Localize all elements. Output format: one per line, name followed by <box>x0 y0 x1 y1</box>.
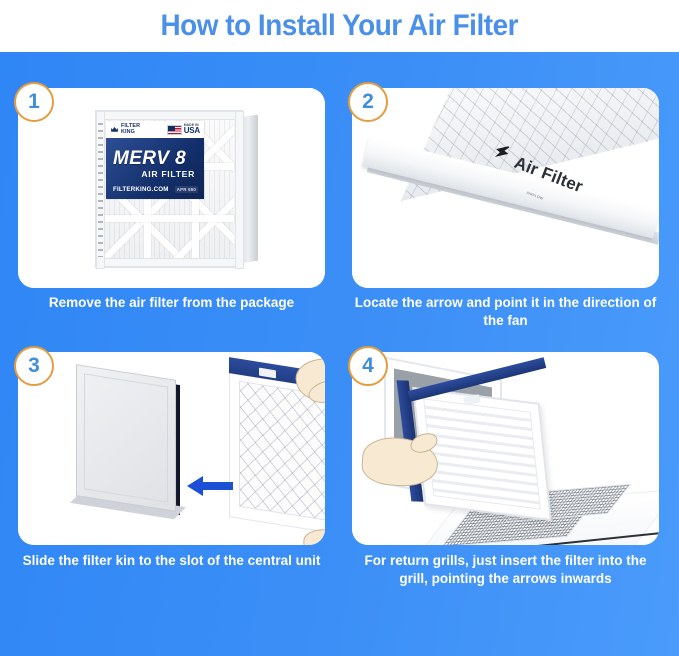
apr-rating-badge: APR 650 <box>175 186 198 193</box>
filter-product-label: FILTER KING MADE IN <box>106 121 204 199</box>
steps-board: FILTER KING MADE IN <box>0 52 679 656</box>
step-number-badge-1: 1 <box>14 82 54 122</box>
filter-king-logo: FILTER KING <box>110 124 140 135</box>
filter-front-face: FILTER KING MADE IN <box>95 110 243 268</box>
step-card-2: Air Filter AIRFLOW 2 Locate the arrow an… <box>352 88 659 336</box>
step-number-badge-4: 4 <box>348 346 388 386</box>
step-1-image-card: FILTER KING MADE IN <box>18 88 325 288</box>
step-card-3: 3 Slide the filter kin to the slot of th… <box>18 352 325 584</box>
filter-frame-edge <box>96 111 244 120</box>
step-4-image-card <box>352 352 659 545</box>
label-brand-row: FILTER KING MADE IN <box>106 121 204 138</box>
step-number-badge-3: 3 <box>14 346 54 386</box>
merv-rating: MERV 8 <box>113 149 186 168</box>
step-caption-2: Locate the arrow and point it in the dir… <box>352 294 659 330</box>
step-card-1: FILTER KING MADE IN <box>18 88 325 336</box>
filter-arrow-photo: Air Filter AIRFLOW <box>352 88 659 288</box>
filter-product-photo: FILTER KING MADE IN <box>18 88 325 288</box>
merv8-filter-graphic: FILTER KING MADE IN <box>95 110 258 268</box>
grill-louvers <box>423 398 540 509</box>
label-navy-body: MERV 8 AIR FILTER FILTERKING.COM APR 650 <box>106 138 204 199</box>
filter-staple-marks <box>98 123 103 257</box>
filter-mesh-pattern <box>239 381 325 522</box>
filter-corner-inner: Air Filter AIRFLOW <box>356 88 659 257</box>
step-card-4: 4 For return grills, just insert the fil… <box>352 352 659 584</box>
crown-icon <box>110 125 119 134</box>
step-caption-1: Remove the air filter from the package <box>18 294 325 312</box>
product-type: AIR FILTER <box>141 170 195 179</box>
usa-flag-icon <box>167 125 182 135</box>
step-2-image-card: Air Filter AIRFLOW <box>352 88 659 288</box>
brand-name: FILTER KING <box>121 124 140 135</box>
airflow-arrow-icon <box>491 141 515 165</box>
made-in-usa-text: MADE IN USA <box>184 124 200 135</box>
step-caption-3: Slide the filter kin to the slot of the … <box>18 552 325 570</box>
slide-filter-illustration <box>18 352 325 545</box>
made-in-usa-badge: MADE IN USA <box>167 124 200 135</box>
page-title: How to Install Your Air Filter <box>161 11 519 41</box>
return-grill-illustration <box>352 352 659 545</box>
infographic-page: How to Install Your Air Filter <box>0 0 679 656</box>
insertion-arrow-icon <box>187 474 233 498</box>
brand-line-2: KING <box>121 130 140 136</box>
header-bar: How to Install Your Air Filter <box>0 0 679 52</box>
central-unit-slot <box>84 373 168 502</box>
step-3-image-card <box>18 352 325 545</box>
filter-frame-edge <box>235 111 244 269</box>
step-number-badge-2: 2 <box>348 82 388 122</box>
step-caption-4: For return grills, just insert the filte… <box>352 552 659 588</box>
filter-corner-graphic: Air Filter AIRFLOW <box>352 88 659 288</box>
filter-support-bar <box>104 215 234 222</box>
steps-grid: FILTER KING MADE IN <box>0 52 679 656</box>
website-text: FILTERKING.COM <box>113 186 169 193</box>
filter-frame-edge <box>96 258 244 267</box>
country-label: USA <box>184 127 200 135</box>
